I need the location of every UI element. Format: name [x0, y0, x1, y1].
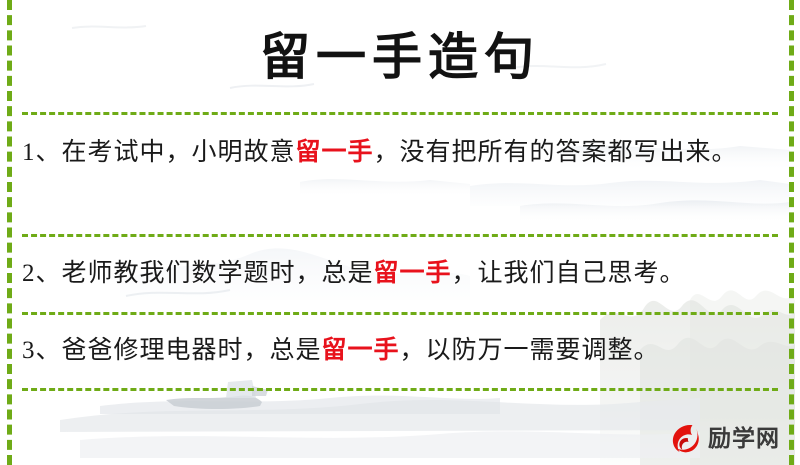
site-watermark: 励学网	[668, 418, 780, 458]
red-swirl-flame-icon	[668, 421, 702, 455]
separator-below-title	[22, 112, 778, 115]
sentence-worksheet-page: 留一手造句 1、在考试中，小明故意留一手，没有把所有的答案都写出来。 2、老师教…	[0, 0, 800, 465]
page-title: 留一手造句	[260, 32, 540, 82]
separator-after-sentence-1	[22, 234, 778, 237]
sentence-2-text-before: 老师教我们数学题时，总是	[62, 260, 374, 287]
title-area: 留一手造句	[0, 22, 800, 92]
sentence-1-keyword: 留一手	[296, 139, 374, 166]
sentence-3-text-after: ，以防万一需要调整。	[400, 337, 660, 364]
sentence-3-index: 3、	[22, 337, 62, 364]
sentence-1-index: 1、	[22, 139, 62, 166]
sentence-3-keyword: 留一手	[322, 337, 400, 364]
sentence-1-text-before: 在考试中，小明故意	[62, 139, 296, 166]
sentence-2-text-after: ，让我们自己思考。	[452, 260, 686, 287]
separator-after-sentence-3	[22, 388, 778, 391]
sentence-2-index: 2、	[22, 260, 62, 287]
separator-after-sentence-2	[22, 312, 778, 315]
sentence-item-2: 2、老师教我们数学题时，总是留一手，让我们自己思考。	[22, 253, 774, 295]
sentence-2-keyword: 留一手	[374, 260, 452, 287]
sentence-3-text-before: 爸爸修理电器时，总是	[62, 337, 322, 364]
sentence-item-1: 1、在考试中，小明故意留一手，没有把所有的答案都写出来。	[22, 132, 774, 174]
watermark-brand-label: 励学网	[708, 427, 780, 450]
sentence-item-3: 3、爸爸修理电器时，总是留一手，以防万一需要调整。	[22, 330, 774, 372]
sentence-1-text-after: ，没有把所有的答案都写出来。	[374, 139, 738, 166]
